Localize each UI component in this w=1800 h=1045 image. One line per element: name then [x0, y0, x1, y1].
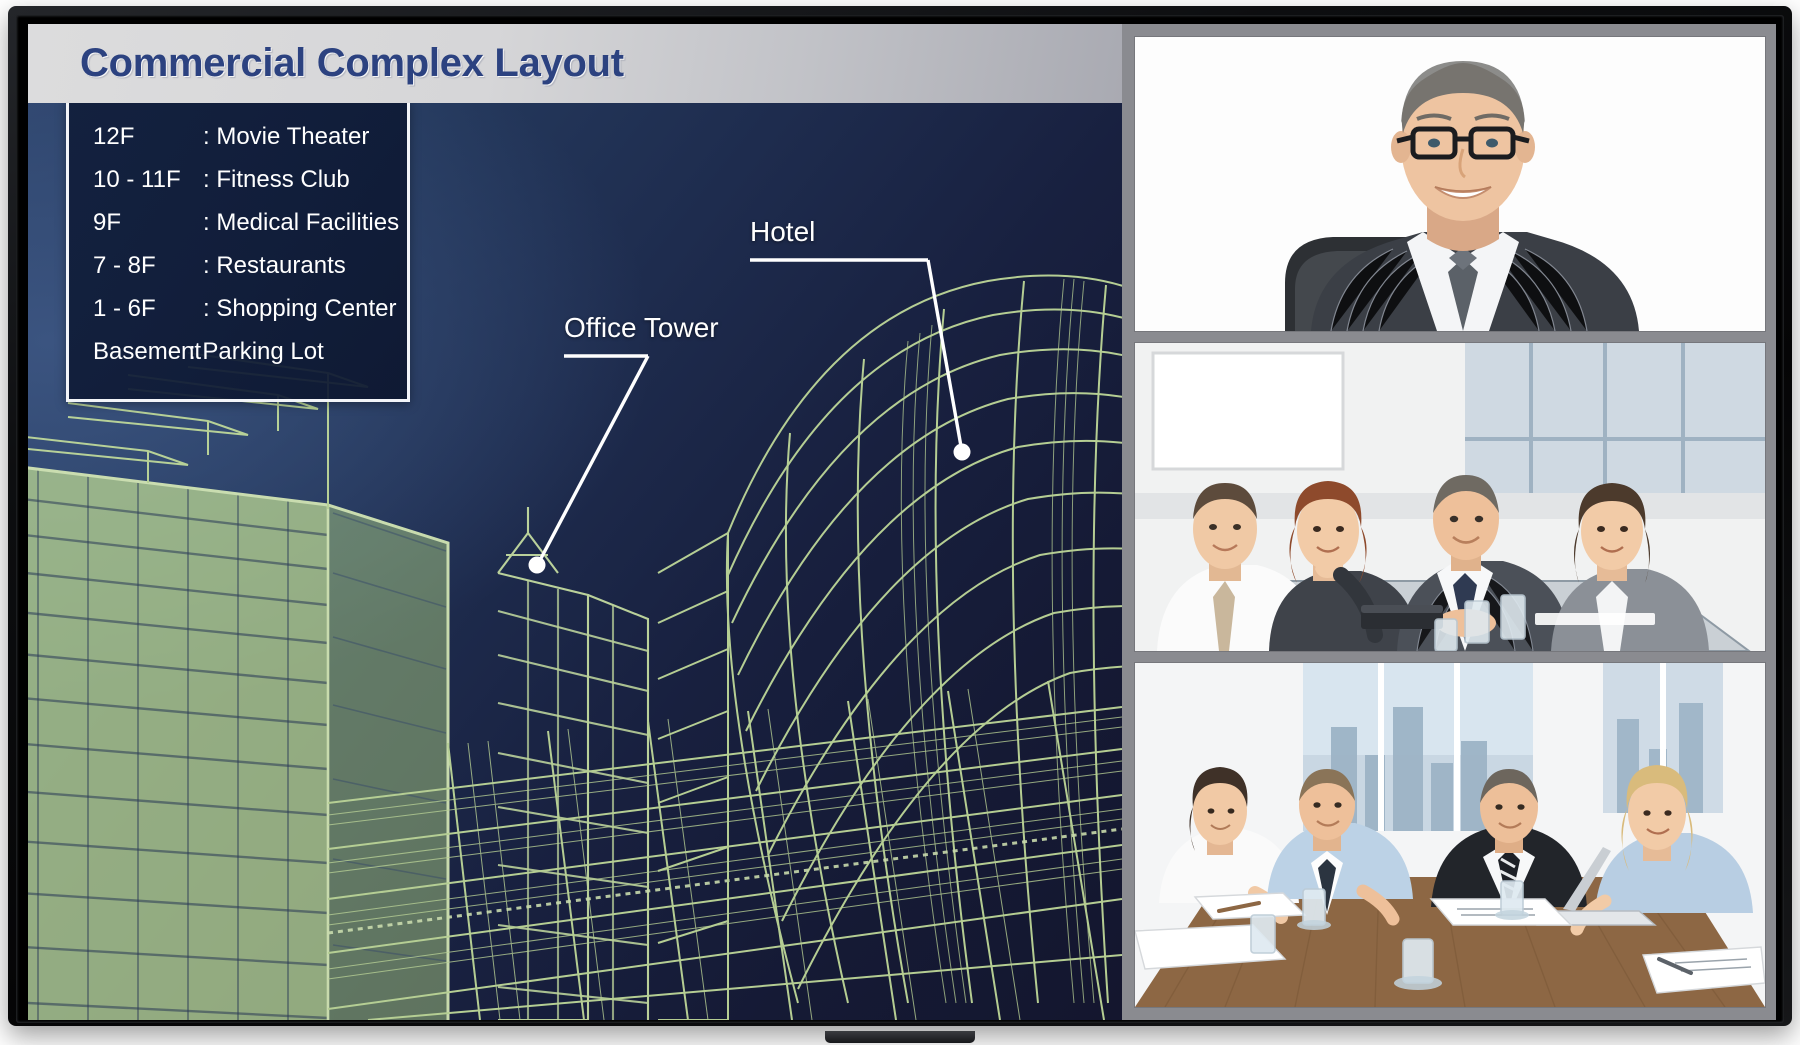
floor-use-text: Medical Facilities — [216, 209, 399, 236]
floor-separator: : — [203, 252, 210, 279]
floor-separator: : — [203, 166, 210, 193]
floor-use-label: : Shopping Center — [203, 295, 396, 323]
callout-label-hotel: Hotel — [750, 216, 815, 248]
video-tile-column — [1122, 24, 1776, 1020]
floor-level-label: 9F — [93, 209, 203, 237]
video-tile-conference-meeting[interactable] — [1134, 662, 1766, 1008]
page-title: Commercial Complex Layout — [80, 41, 624, 86]
display-device: Office Tower Hotel 12F : Movie Theater 1… — [0, 0, 1800, 1045]
floor-row: 7 - 8F : Restaurants — [69, 252, 407, 295]
floor-level-label: Basement — [93, 338, 189, 366]
title-bar: Commercial Complex Layout — [28, 24, 1122, 103]
floor-row: 10 - 11F : Fitness Club — [69, 166, 407, 209]
display-stand-foot — [825, 1031, 975, 1043]
floor-use-text: Parking Lot — [202, 338, 323, 365]
floor-row: 12F : Movie Theater — [69, 123, 407, 166]
floor-level-label: 12F — [93, 123, 203, 151]
callout-label-office-tower: Office Tower — [564, 312, 719, 344]
floor-use-text: Fitness Club — [216, 166, 349, 193]
floor-use-label: : Movie Theater — [203, 123, 369, 151]
floor-use-text: Movie Theater — [216, 123, 369, 150]
floor-use-label: : Fitness Club — [203, 166, 350, 194]
businessman-portrait-image — [1135, 37, 1765, 331]
floor-level-label: 1 - 6F — [93, 295, 203, 323]
floor-row: 9F : Medical Facilities — [69, 209, 407, 252]
floor-row: Basement : Parking Lot — [69, 338, 407, 381]
floor-use-label: : Medical Facilities — [203, 209, 399, 237]
video-tile-businessman-portrait[interactable] — [1134, 36, 1766, 332]
floor-directory-legend: 12F : Movie Theater 10 - 11F : Fitness C… — [66, 100, 410, 402]
main-content-pane: Office Tower Hotel 12F : Movie Theater 1… — [28, 24, 1122, 1020]
floor-level-label: 10 - 11F — [93, 166, 203, 194]
meeting-four-people-image — [1135, 343, 1765, 651]
floor-use-label: : Restaurants — [203, 252, 346, 280]
conference-meeting-image — [1135, 663, 1765, 1007]
floor-use-text: Shopping Center — [216, 295, 396, 322]
floor-use-text: Restaurants — [216, 252, 345, 279]
floor-separator: : — [189, 338, 196, 365]
floor-use-label: : Parking Lot — [189, 338, 324, 366]
floor-level-label: 7 - 8F — [93, 252, 203, 280]
floor-row: 1 - 6F : Shopping Center — [69, 295, 407, 338]
floor-separator: : — [203, 209, 210, 236]
floor-separator: : — [203, 295, 210, 322]
video-tile-meeting-four-people[interactable] — [1134, 342, 1766, 652]
screen: Office Tower Hotel 12F : Movie Theater 1… — [28, 24, 1776, 1020]
floor-separator: : — [203, 123, 210, 150]
